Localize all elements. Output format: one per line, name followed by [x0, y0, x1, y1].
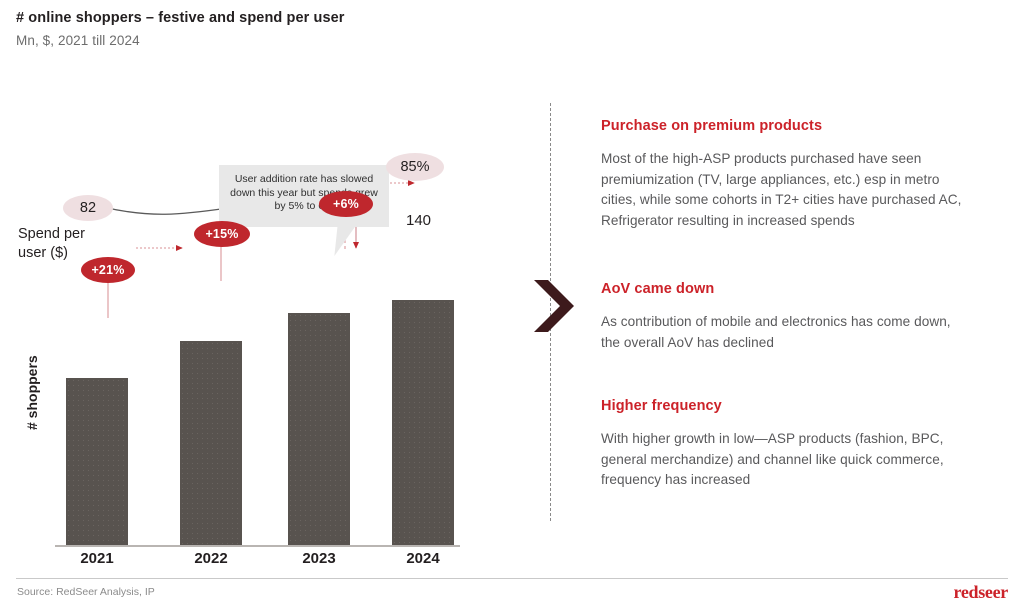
insight-section-2: AoV came down As contribution of mobile …	[601, 281, 973, 353]
insight-section-1: Purchase on premium products Most of the…	[601, 118, 973, 231]
slide-canvas: # online shoppers – festive and spend pe…	[0, 0, 1024, 615]
growth-badge-2021: +21%	[81, 257, 135, 283]
insight-heading-2: AoV came down	[601, 281, 973, 297]
x-tick-2023: 2023	[288, 550, 350, 567]
insight-section-3: Higher frequency With higher growth in l…	[601, 398, 973, 491]
insight-body-2: As contribution of mobile and electronic…	[601, 312, 973, 353]
insight-heading-3: Higher frequency	[601, 398, 973, 414]
x-tick-2021: 2021	[66, 550, 128, 567]
page-subtitle: Mn, $, 2021 till 2024	[16, 33, 140, 48]
growth-badge-2023: +6%	[319, 191, 373, 217]
insight-heading-1: Purchase on premium products	[601, 118, 973, 134]
insights-panel: Purchase on premium products Most of the…	[601, 118, 973, 491]
callout-tail	[334, 224, 355, 258]
chevron-right-icon	[530, 278, 576, 334]
x-tick-2024: 2024	[392, 550, 454, 567]
chart-overlay	[0, 60, 520, 530]
page-title: # online shoppers – festive and spend pe…	[16, 10, 345, 26]
x-tick-2022: 2022	[180, 550, 242, 567]
chart-area: # shoppers Spend per user ($) 2021 2022 …	[0, 60, 520, 530]
source-note: Source: RedSeer Analysis, IP	[17, 586, 155, 598]
footer-divider	[16, 578, 1008, 579]
redseer-logo: redseer	[953, 582, 1008, 603]
value-label-140: 140	[406, 212, 431, 229]
insight-body-3: With higher growth in low—ASP products (…	[601, 429, 973, 491]
x-axis-line	[55, 545, 460, 547]
bubble-spend-2021: 82	[63, 195, 113, 221]
bubble-spend-2024: 85%	[386, 153, 444, 181]
insight-body-1: Most of the high-ASP products purchased …	[601, 149, 973, 231]
growth-badge-2022: +15%	[194, 221, 250, 247]
